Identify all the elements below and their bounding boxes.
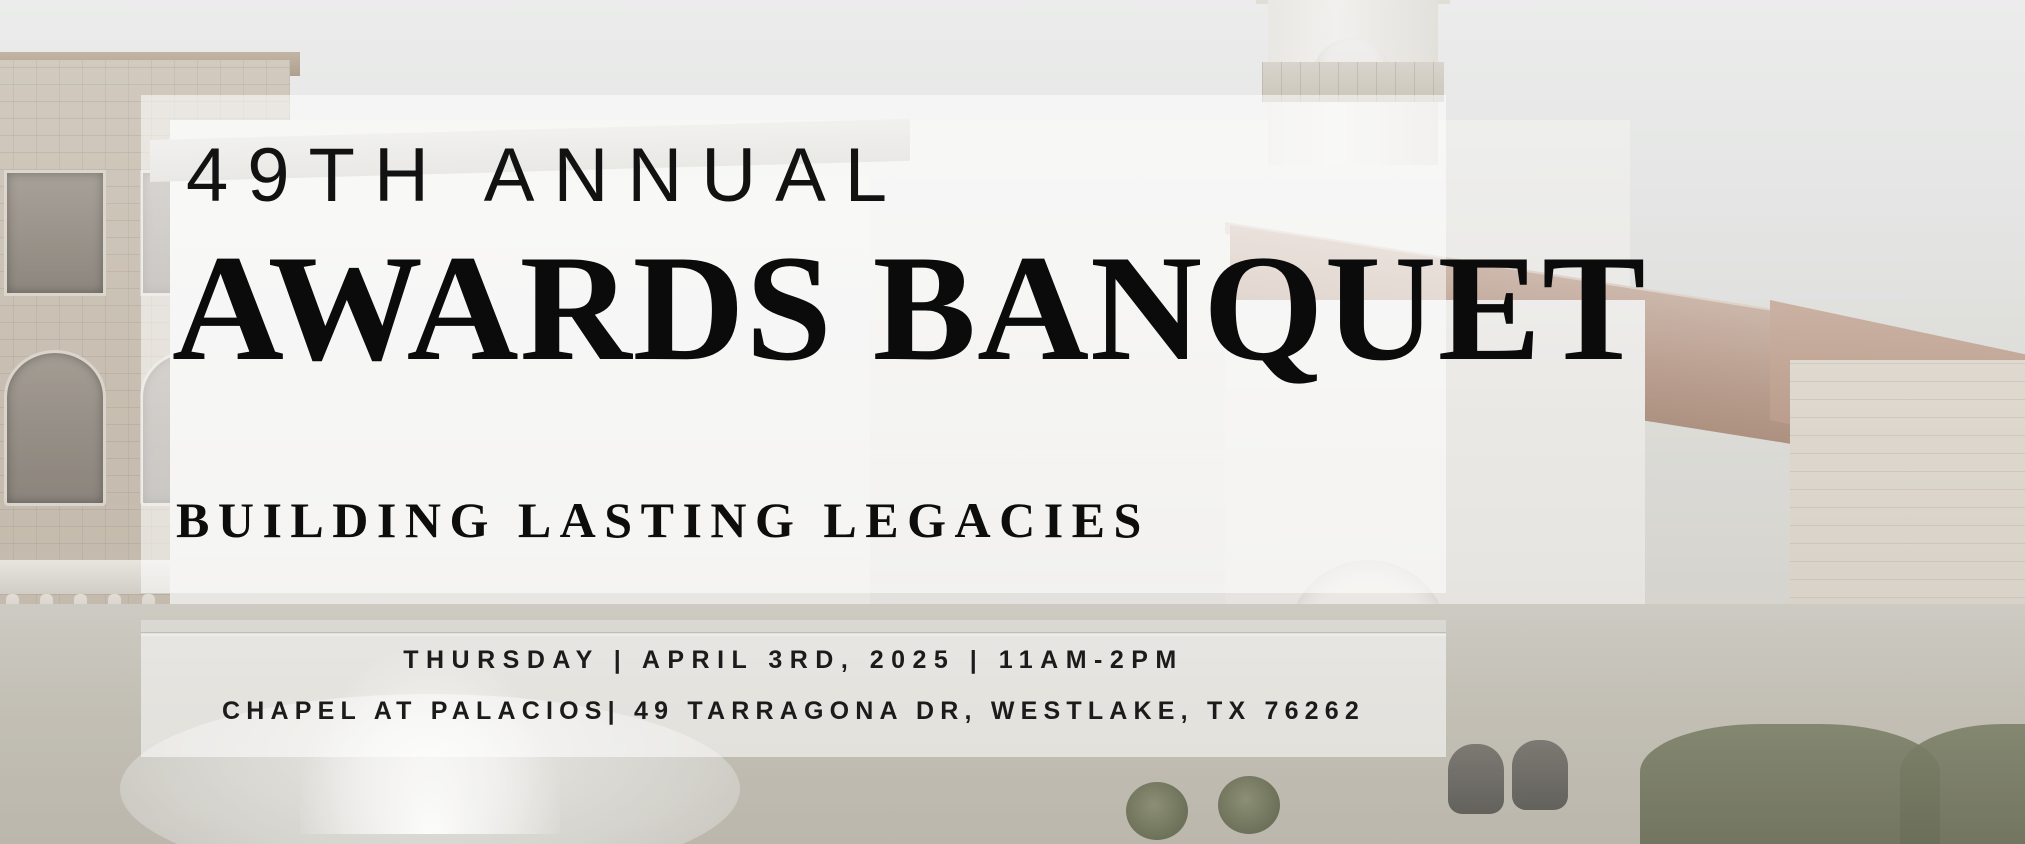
event-details: THURSDAY | APRIL 3RD, 2025 | 11AM-2PM CH…: [141, 648, 1446, 724]
eyebrow-text: 49TH ANNUAL: [186, 138, 906, 214]
event-venue-address: CHAPEL AT PALACIOS| 49 TARRAGONA DR, WES…: [141, 699, 1446, 724]
poster-canvas: 49TH ANNUAL AWARDS BANQUET BUILDING LAST…: [0, 0, 2025, 844]
tagline-text: BUILDING LASTING LEGACIES: [176, 495, 1150, 545]
page-title: AWARDS BANQUET: [172, 232, 1647, 384]
event-date-time: THURSDAY | APRIL 3RD, 2025 | 11AM-2PM: [141, 648, 1446, 673]
poster-text-layer: 49TH ANNUAL AWARDS BANQUET BUILDING LAST…: [0, 0, 2025, 844]
